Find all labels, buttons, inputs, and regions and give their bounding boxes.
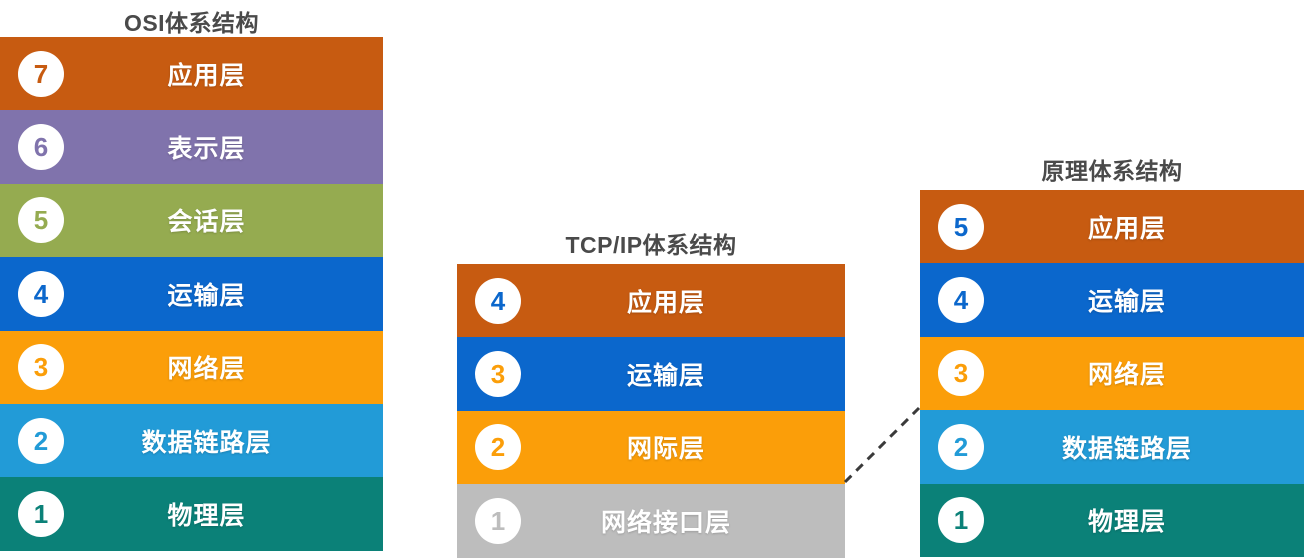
tcpip-column: TCP/IP体系结构 4应用层3运输层2网际层1网络接口层: [457, 0, 845, 551]
layer-band[interactable]: 3网络层: [0, 331, 383, 404]
layer-number-badge: 5: [938, 204, 984, 250]
layer-number-badge: 7: [18, 51, 64, 97]
layer-number-badge: 4: [18, 271, 64, 317]
layer-number-badge: 3: [475, 351, 521, 397]
layer-number-badge: 5: [18, 197, 64, 243]
layer-band[interactable]: 2数据链路层: [0, 404, 383, 477]
layer-band[interactable]: 1网络接口层: [457, 484, 845, 557]
layer-number-badge: 2: [938, 424, 984, 470]
layer-band[interactable]: 6表示层: [0, 110, 383, 183]
osi-band-list: 7应用层6表示层5会话层4运输层3网络层2数据链路层1物理层: [0, 37, 383, 551]
layer-band[interactable]: 7应用层: [0, 37, 383, 110]
layer-number-badge: 4: [475, 278, 521, 324]
layer-band[interactable]: 5应用层: [920, 190, 1304, 263]
layer-number-badge: 2: [475, 424, 521, 470]
principle-column: 原理体系结构 5应用层4运输层3网络层2数据链路层1物理层: [920, 0, 1304, 551]
layer-number-badge: 3: [938, 350, 984, 396]
layer-number-badge: 1: [938, 497, 984, 543]
principle-column-title: 原理体系结构: [920, 152, 1304, 186]
osi-column-title: OSI体系结构: [0, 4, 383, 38]
layer-band[interactable]: 4运输层: [920, 263, 1304, 336]
layer-band[interactable]: 4运输层: [0, 257, 383, 330]
dashed-connector-line: [845, 408, 919, 482]
layer-number-badge: 4: [938, 277, 984, 323]
layer-number-badge: 6: [18, 124, 64, 170]
layer-band[interactable]: 1物理层: [920, 484, 1304, 557]
layer-band[interactable]: 2数据链路层: [920, 410, 1304, 483]
tcpip-column-title: TCP/IP体系结构: [457, 226, 845, 260]
layer-band[interactable]: 3网络层: [920, 337, 1304, 410]
principle-band-list: 5应用层4运输层3网络层2数据链路层1物理层: [920, 190, 1304, 557]
layer-number-badge: 3: [18, 344, 64, 390]
layer-number-badge: 2: [18, 418, 64, 464]
layer-band[interactable]: 2网际层: [457, 411, 845, 484]
layer-band[interactable]: 5会话层: [0, 184, 383, 257]
layer-band[interactable]: 4应用层: [457, 264, 845, 337]
osi-column: OSI体系结构 7应用层6表示层5会话层4运输层3网络层2数据链路层1物理层: [0, 0, 383, 551]
layer-number-badge: 1: [475, 498, 521, 544]
layer-band[interactable]: 3运输层: [457, 337, 845, 410]
tcpip-band-list: 4应用层3运输层2网际层1网络接口层: [457, 264, 845, 558]
layer-band[interactable]: 1物理层: [0, 477, 383, 550]
layer-number-badge: 1: [18, 491, 64, 537]
